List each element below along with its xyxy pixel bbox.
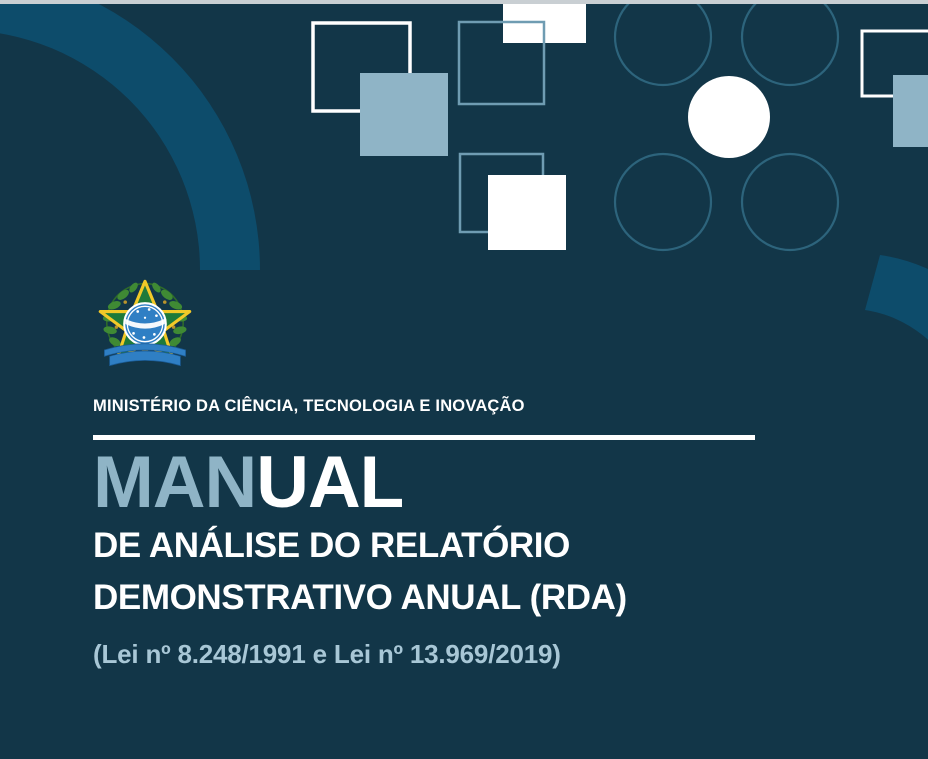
emblem-ribbon: [104, 344, 185, 366]
square-solid-lightblue-right: [893, 75, 928, 147]
cover-content: MINISTÉRIO DA CIÊNCIA, TECNOLOGIA E INOV…: [93, 272, 853, 667]
document-cover-page: MINISTÉRIO DA CIÊNCIA, TECNOLOGIA E INOV…: [0, 0, 928, 759]
brazil-coat-of-arms-emblem: [93, 272, 197, 376]
page-title-accent: MAN: [93, 442, 256, 523]
ministry-name: MINISTÉRIO DA CIÊNCIA, TECNOLOGIA E INOV…: [93, 398, 853, 415]
square-solid-white-bottom: [488, 175, 566, 250]
subtitle-line-2: DEMONSTRATIVO ANUAL (RDA): [93, 575, 853, 622]
page-title-rest: UAL: [256, 442, 403, 523]
legal-reference: (Lei nº 8.248/1991 e Lei nº 13.969/2019): [93, 641, 853, 667]
square-solid-lightblue-left: [360, 73, 448, 156]
page-edge-strip: [0, 0, 928, 4]
subtitle-line-1: DE ANÁLISE DO RELATÓRIO: [93, 523, 853, 570]
title-divider-rule: [93, 435, 755, 440]
page-title: MANUAL: [93, 448, 853, 517]
circle-solid-white: [688, 76, 770, 158]
